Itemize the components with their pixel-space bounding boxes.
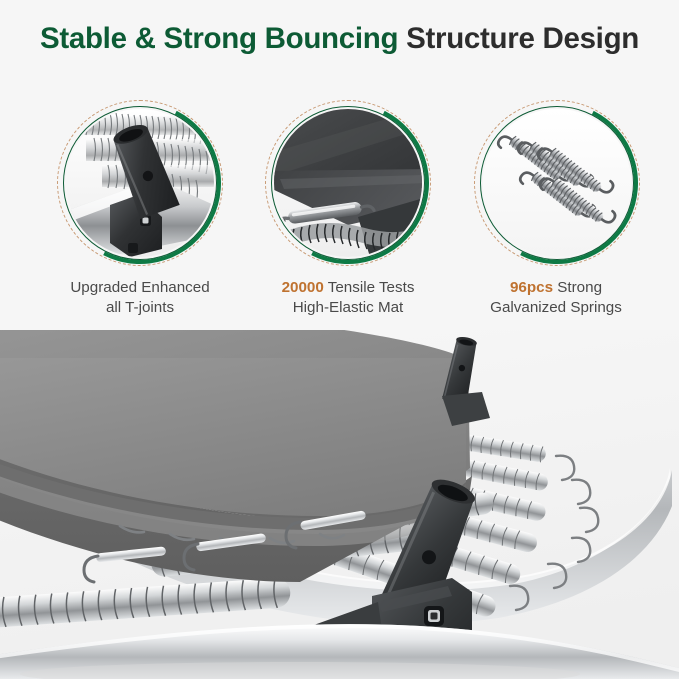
feature-image-high-elastic-mat	[274, 109, 422, 257]
feature-circle-galvanized-springs	[472, 98, 642, 268]
feature-circle-t-joints	[55, 98, 225, 268]
caption-highlight: 96pcs	[510, 279, 553, 296]
title-rest: Structure Design	[398, 22, 639, 55]
caption-line-1: Upgraded Enhanced	[70, 279, 209, 296]
feature-circle-high-elastic-mat	[263, 98, 433, 268]
feature-image-galvanized-springs	[483, 109, 631, 257]
feature-image-t-joints	[66, 109, 214, 257]
caption-line-2: Galvanized Springs	[440, 298, 672, 318]
caption-galvanized-springs: 96pcs Strong Galvanized Springs	[440, 278, 672, 317]
feature-captions: Upgraded Enhanced all T-joints 20000 Ten…	[0, 278, 679, 328]
feature-circles	[0, 98, 679, 268]
caption-line-1: Strong	[553, 279, 602, 296]
title-highlight: Stable & Strong Bouncing	[40, 22, 398, 55]
caption-line-2: all T-joints	[24, 298, 256, 318]
product-feature-image: Stable & Strong Bouncing Structure Desig…	[0, 0, 679, 679]
caption-high-elastic-mat: 20000 Tensile Tests High-Elastic Mat	[232, 278, 464, 317]
caption-t-joints: Upgraded Enhanced all T-joints	[24, 278, 256, 317]
page-title: Stable & Strong Bouncing Structure Desig…	[0, 22, 679, 56]
caption-line-2: High-Elastic Mat	[232, 298, 464, 318]
caption-highlight: 20000	[282, 279, 324, 296]
caption-line-1: Tensile Tests	[324, 279, 415, 296]
hero-product-photo	[0, 330, 679, 679]
